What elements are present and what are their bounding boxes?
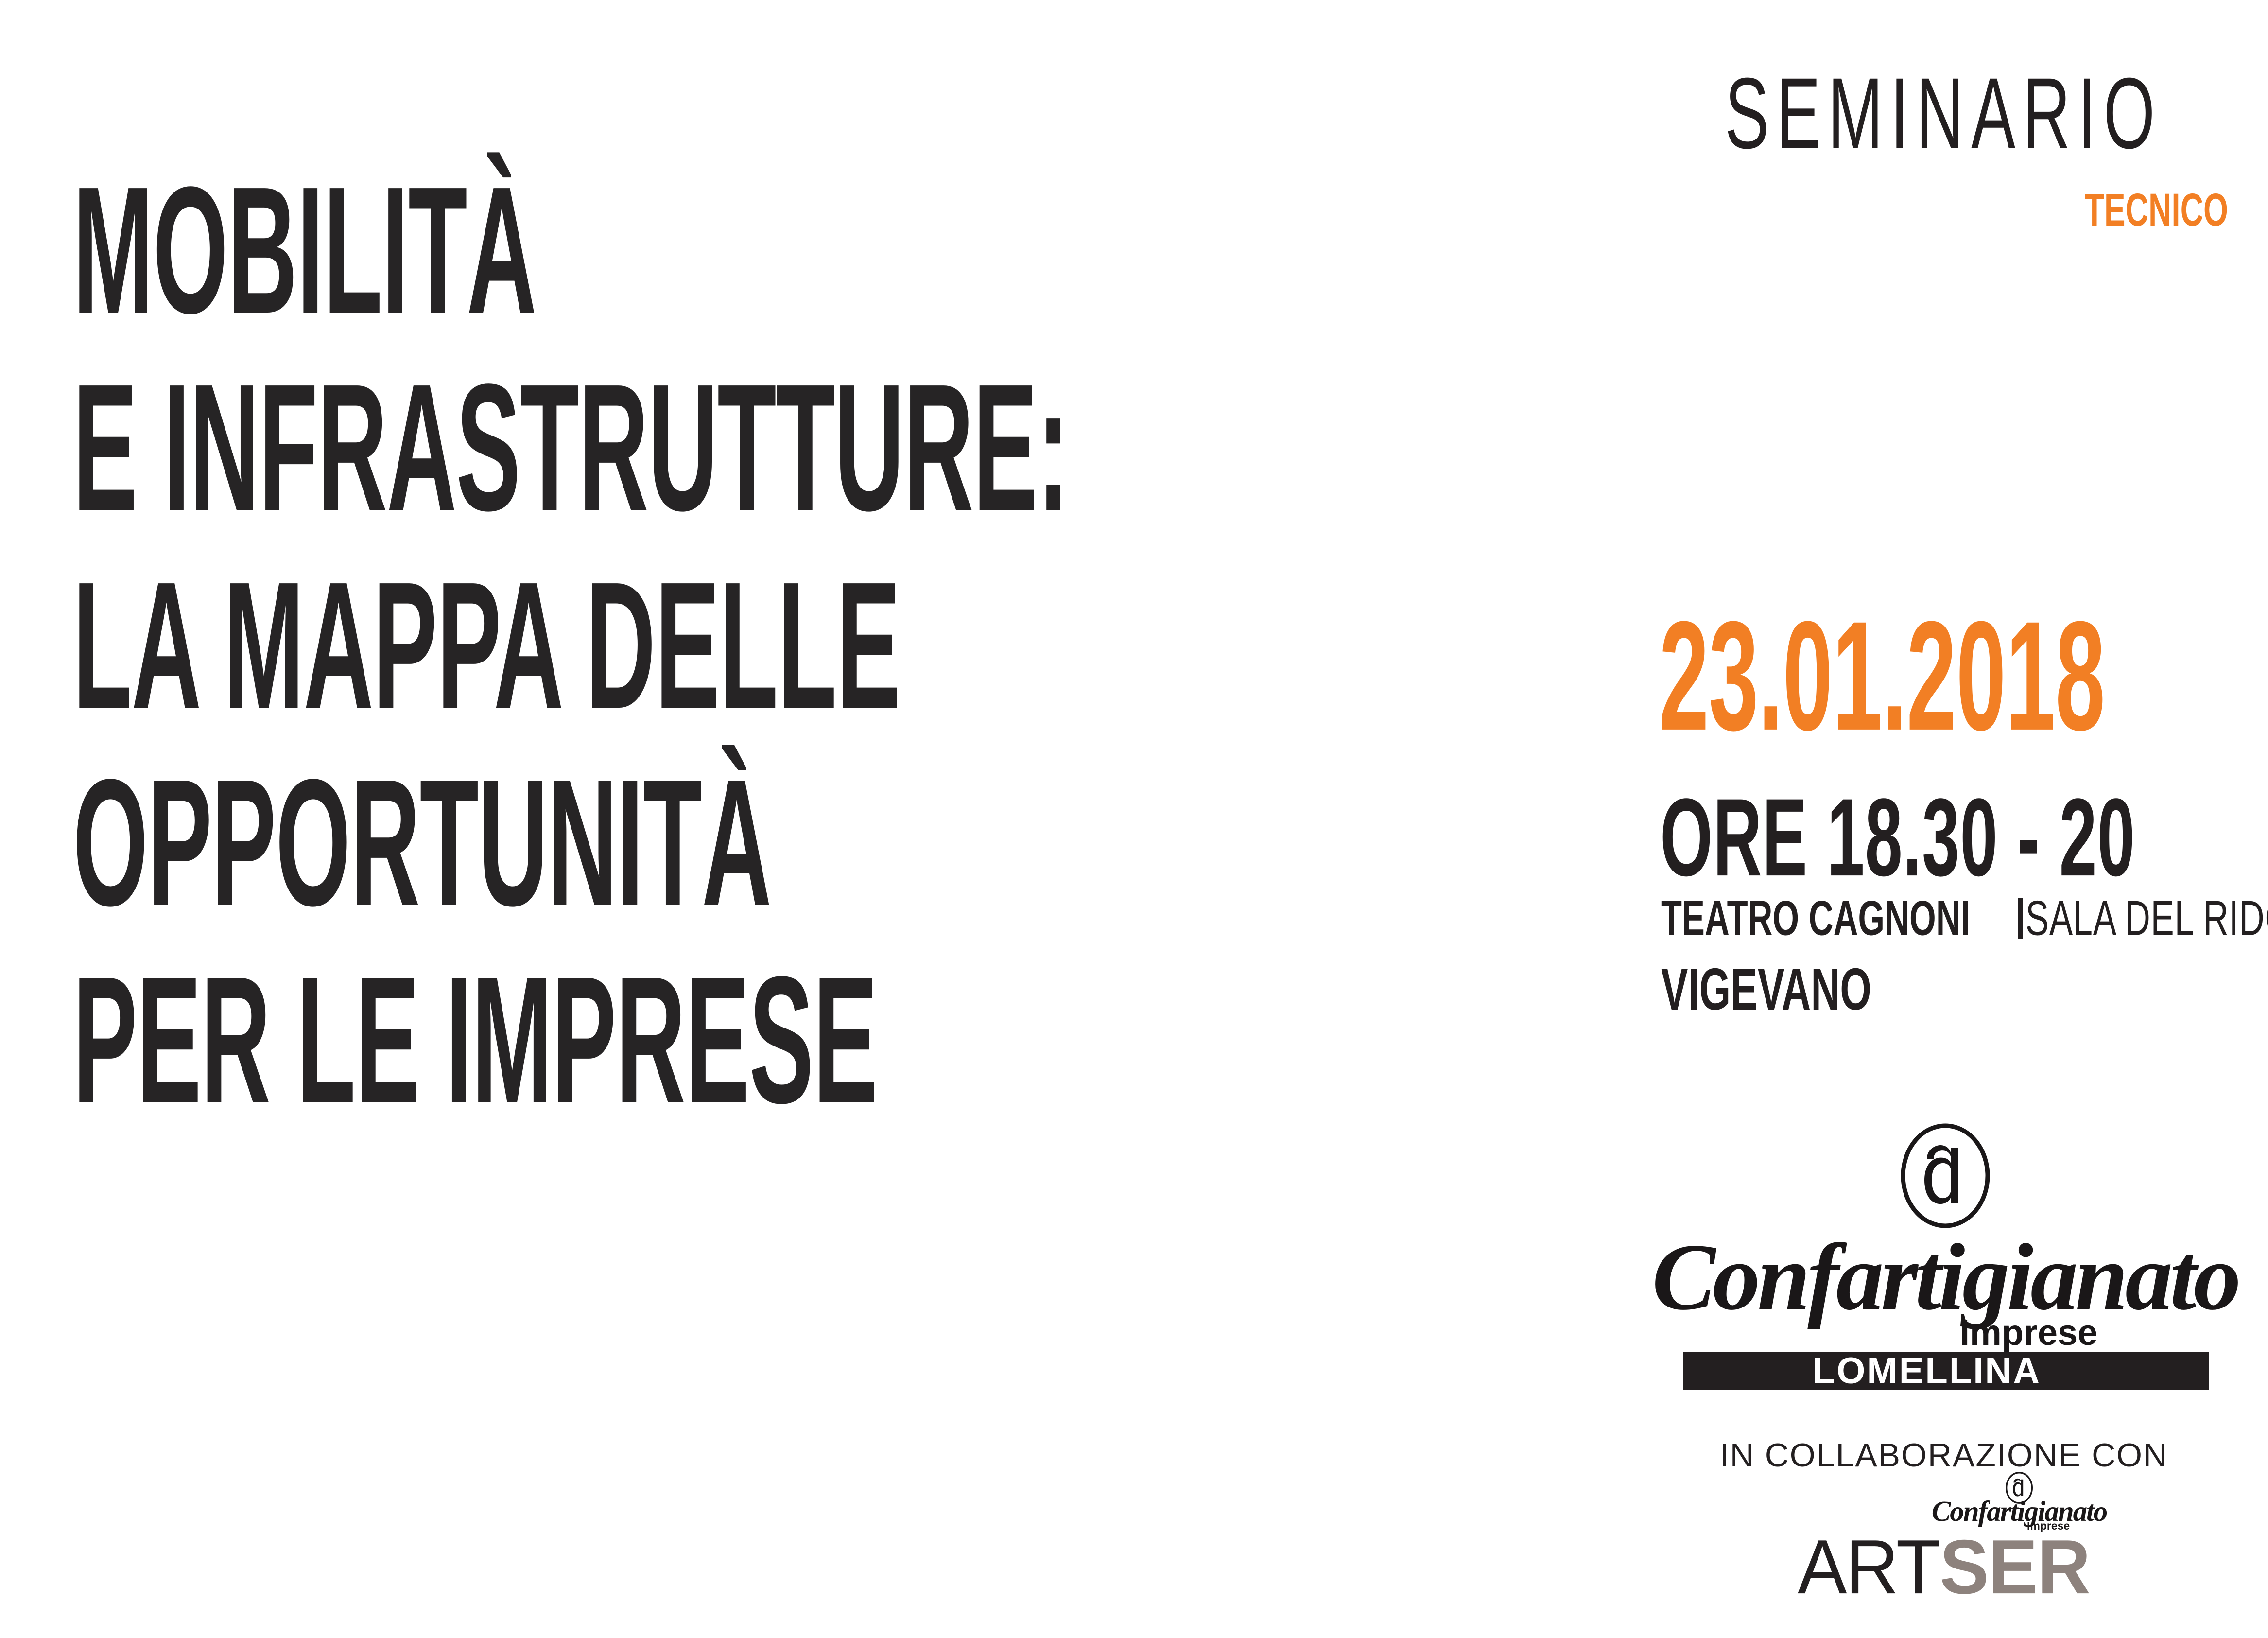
poster-headline: MOBILITÀ E INFRASTRUTTURE: LA MAPPA DELL… [73, 160, 1579, 1129]
organizer-territory-label: LOMELLINA [1683, 1353, 2209, 1390]
organizer-territory-bar: LOMELLINA [1683, 1352, 2209, 1390]
event-venue-line: TEATRO CAGNONI SALA DEL RIDOTTO [1661, 897, 2268, 940]
event-venue-name: TEATRO CAGNONI [1661, 893, 1970, 942]
headline-line-2: E INFRASTRUTTURE: [73, 358, 879, 537]
event-venue-room: SALA DEL RIDOTTO [2026, 893, 2268, 942]
event-date: 23.01.2018 [1659, 598, 2105, 753]
organizer-wordmark: Confartigianato [1652, 1230, 2238, 1325]
artser-ser-part: SER [1939, 1529, 2090, 1605]
confartigianato-a-mark-icon [1897, 1123, 1994, 1231]
event-time: ORE 18.30 - 20 [1660, 783, 2135, 893]
partner-artser-logo: ARTSER [1657, 1530, 2231, 1604]
organizer-subword: Imprese [1960, 1315, 2098, 1351]
poster-info-column: SEMINARIO TECNICO 23.01.2018 ORE 18.30 -… [1657, 0, 2231, 1638]
headline-line-3: LA MAPPA DELLE [73, 556, 879, 734]
headline-line-1: MOBILITÀ [73, 160, 879, 339]
eyebrow-seminario: SEMINARIO [1725, 63, 2163, 164]
venue-separator-bar [2018, 898, 2023, 939]
eyebrow-tecnico: TECNICO [2085, 187, 2228, 233]
event-city: VIGEVANO [1661, 960, 1871, 1019]
collaboration-label: IN COLLABORAZIONE CON [1657, 1439, 2231, 1472]
headline-line-4: OPPORTUNITÀ [73, 753, 879, 932]
headline-line-5: PER LE IMPRESE [73, 950, 879, 1129]
artser-art-part: ART [1798, 1529, 1939, 1605]
organizer-logo: Confartigianato Imprese LOMELLINA [1672, 1123, 2218, 1395]
partner-wordmark: Confartigianato [1932, 1497, 2107, 1526]
eyebrow-tecnico-container: TECNICO [1657, 187, 2231, 226]
partner-confartigianato-logo: Confartigianato Imprese [1939, 1472, 2099, 1533]
eyebrow-seminario-container: SEMINARIO [1657, 63, 2231, 146]
